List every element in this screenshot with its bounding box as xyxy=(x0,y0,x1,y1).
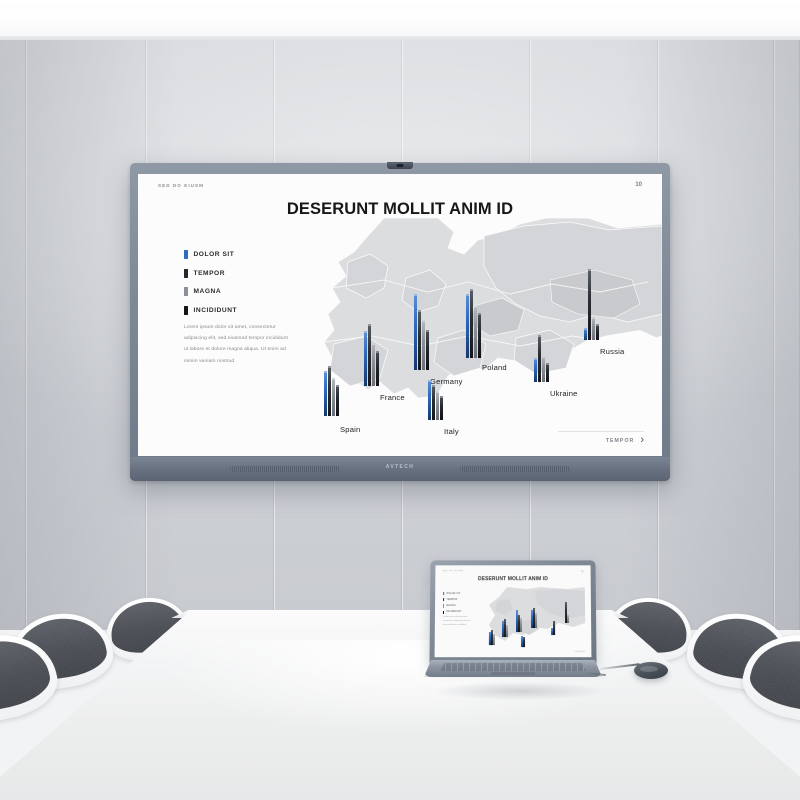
map-label-spain: Spain xyxy=(340,425,360,434)
display-chin: AVTECH xyxy=(130,457,670,481)
display-screen[interactable]: SED DO EIUSM 10 DESERUNT MOLLIT ANIM ID … xyxy=(138,174,662,456)
bar-poland-incididunt xyxy=(478,313,481,358)
laptop-base xyxy=(424,660,602,677)
mini-legend-item: TEMPOR xyxy=(443,598,461,601)
mini-slide-body-copy: Lorem ipsum dolor sit amet, consectetur … xyxy=(443,616,477,628)
legend-swatch-icon xyxy=(184,269,188,278)
bar-spain-magna xyxy=(332,378,335,416)
mini-bar xyxy=(553,621,555,635)
bar-ukraine-tempor xyxy=(538,335,541,382)
bar-spain-tempor xyxy=(328,366,331,416)
legend-swatch-icon xyxy=(184,250,188,259)
mini-legend-label: MAGNA xyxy=(446,605,455,607)
mini-legend-item: DOLOR SIT xyxy=(443,592,461,595)
legend-label: INCIDIDUNT xyxy=(194,307,238,314)
laptop-screen[interactable]: SED DO EIUSM 10 DESERUNT MOLLIT ANIM ID … xyxy=(435,565,592,657)
display-brand-label: AVTECH xyxy=(386,464,415,470)
legend-item: TEMPOR xyxy=(184,269,296,278)
mini-bar xyxy=(567,615,569,623)
slide-cta-rule xyxy=(558,431,644,432)
mini-europe-map-chart xyxy=(481,587,586,653)
laptop-mirrored-slide: SED DO EIUSM 10 DESERUNT MOLLIT ANIM ID … xyxy=(435,565,592,657)
legend-swatch-icon xyxy=(184,306,188,315)
legend-item: MAGNA xyxy=(184,287,296,296)
bar-italy-tempor xyxy=(432,385,435,420)
mini-legend-item: MAGNA xyxy=(443,604,461,607)
slide-eyebrow: SED DO EIUSM xyxy=(158,183,204,188)
map-label-poland: Poland xyxy=(482,363,507,372)
ceiling xyxy=(0,0,800,38)
mini-slide-eyebrow: SED DO EIUSM xyxy=(442,570,463,572)
laptop-lid: SED DO EIUSM 10 DESERUNT MOLLIT ANIM ID … xyxy=(429,560,596,664)
slide-cta-label: TEMPOR xyxy=(606,438,635,444)
map-label-italy: Italy xyxy=(444,427,459,436)
map-label-france: France xyxy=(380,393,405,402)
mini-legend-label: TEMPOR xyxy=(446,599,457,601)
mini-bar xyxy=(535,613,537,628)
slide-page-number: 10 xyxy=(635,182,642,188)
bar-france-dolor-sit xyxy=(364,331,367,386)
mini-bar xyxy=(520,618,522,632)
bar-russia-dolor-sit xyxy=(584,328,587,340)
legend-swatch-icon xyxy=(184,287,188,296)
speaker-grille-right xyxy=(460,466,570,472)
conference-microphone[interactable] xyxy=(634,662,668,679)
europe-map-chart: Spain France xyxy=(288,218,662,444)
bar-italy-incididunt xyxy=(440,396,443,420)
bar-ukraine-dolor-sit xyxy=(534,358,537,382)
chart-legend: DOLOR SIT TEMPOR MAGNA INCIDIDUNT xyxy=(184,250,296,324)
bar-italy-magna xyxy=(436,391,439,420)
mini-legend-label: DOLOR SIT xyxy=(447,593,461,595)
bar-germany-magna xyxy=(422,320,425,370)
mini-bar xyxy=(506,625,508,637)
map-label-ukraine: Ukraine xyxy=(550,389,578,398)
conference-room-scene: SED DO EIUSM 10 DESERUNT MOLLIT ANIM ID … xyxy=(0,0,800,800)
bar-poland-dolor-sit xyxy=(466,294,469,358)
bar-poland-magna xyxy=(474,306,477,358)
mini-slide-cta-label: TEMPOR xyxy=(574,651,585,653)
bar-france-incididunt xyxy=(376,351,379,386)
slide-body-copy: Lorem ipsum dolor sit amet, consectetur … xyxy=(184,322,292,367)
mini-bar xyxy=(493,634,495,645)
laptop-trackpad[interactable] xyxy=(491,672,535,675)
laptop[interactable]: SED DO EIUSM 10 DESERUNT MOLLIT ANIM ID … xyxy=(424,560,602,688)
legend-item: INCIDIDUNT xyxy=(184,306,296,315)
bar-russia-incididunt xyxy=(596,324,599,340)
bar-france-magna xyxy=(372,343,375,386)
map-label-russia: Russia xyxy=(600,347,624,356)
mini-legend-item: INCIDIDUNT xyxy=(443,611,461,614)
bar-france-tempor xyxy=(368,324,371,386)
slide-header: SED DO EIUSM 10 xyxy=(138,174,662,198)
bar-ukraine-incididunt xyxy=(546,363,549,382)
mini-bar xyxy=(523,637,525,647)
legend-swatch-icon xyxy=(443,611,444,614)
bar-ukraine-magna xyxy=(542,356,545,382)
presentation-slide: SED DO EIUSM 10 DESERUNT MOLLIT ANIM ID … xyxy=(138,174,662,456)
bar-italy-dolor-sit xyxy=(428,380,431,420)
bar-russia-tempor xyxy=(588,269,591,340)
legend-label: MAGNA xyxy=(194,288,222,295)
bar-poland-tempor xyxy=(470,289,473,358)
legend-swatch-icon xyxy=(443,598,444,601)
mini-legend-label: INCIDIDUNT xyxy=(446,611,461,613)
mini-slide-title: DESERUNT MOLLIT ANIM ID xyxy=(435,576,590,582)
legend-swatch-icon xyxy=(443,604,444,607)
wall-display[interactable]: SED DO EIUSM 10 DESERUNT MOLLIT ANIM ID … xyxy=(130,163,670,481)
laptop-keyboard[interactable] xyxy=(440,663,586,671)
bar-germany-tempor xyxy=(418,310,421,370)
legend-label: TEMPOR xyxy=(194,270,226,277)
bar-germany-dolor-sit xyxy=(414,294,417,370)
legend-label: DOLOR SIT xyxy=(194,251,235,258)
mini-slide-page-number: 10 xyxy=(581,570,584,573)
bar-spain-incididunt xyxy=(336,385,339,416)
slide-cta[interactable]: TEMPOR › xyxy=(606,435,644,446)
bar-spain-dolor-sit xyxy=(324,371,327,416)
bar-germany-incididunt xyxy=(426,330,429,370)
legend-item: DOLOR SIT xyxy=(184,250,296,259)
speaker-grille-left xyxy=(230,466,340,472)
camera-icon xyxy=(387,162,413,169)
bar-russia-magna xyxy=(592,317,595,340)
chevron-right-icon: › xyxy=(640,435,644,446)
mini-chart-legend: DOLOR SIT TEMPOR MAGNA INCIDIDUNT xyxy=(443,592,462,617)
legend-swatch-icon xyxy=(443,592,444,595)
slide-title: DESERUNT MOLLIT ANIM ID xyxy=(138,200,662,219)
